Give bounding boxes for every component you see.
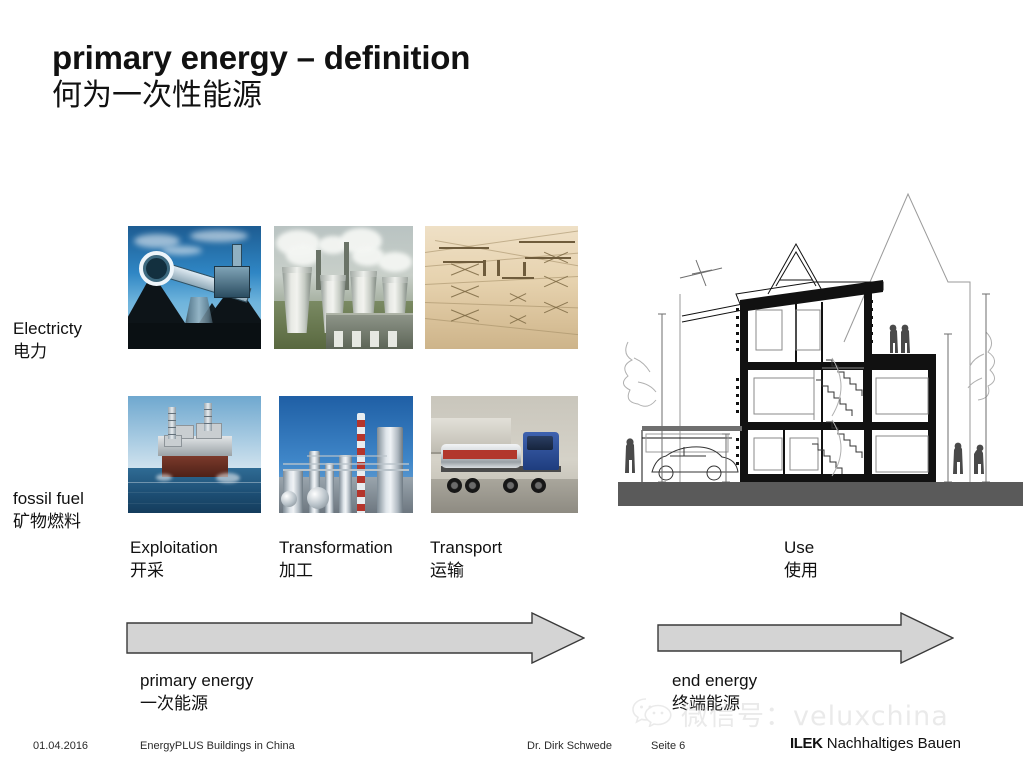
caption-transformation: Transformation 加工 [279,537,393,583]
page-title: primary energy – definition 何为一次性能源 [52,40,470,113]
end-energy-arrow [657,612,954,664]
primary-energy-label-zh: 一次能源 [140,693,253,716]
row-label-fossil-fuel-zh: 矿物燃料 [13,511,84,534]
primary-energy-label-en: primary energy [140,671,253,690]
caption-transport-en: Transport [430,538,502,557]
building-section-drawing [618,182,1023,522]
ilek-logo-text: Nachhaltiges Bauen [823,735,961,752]
ilek-logo: ILEK Nachhaltiges Bauen [790,735,961,752]
ilek-logo-mark: ILEK [790,735,823,752]
caption-transport-zh: 运输 [430,560,502,583]
power-plant-photo [274,226,413,349]
wechat-icon [632,695,672,732]
footer-date: 01.04.2016 [33,740,88,752]
tanker-truck-photo [431,396,578,513]
title-english: primary energy – definition [52,40,470,77]
row-label-electricity-zh: 电力 [13,341,82,364]
caption-exploitation: Exploitation 开采 [130,537,218,583]
primary-energy-label: primary energy 一次能源 [140,670,253,716]
caption-exploitation-en: Exploitation [130,538,218,557]
slide-canvas: primary energy – definition 何为一次性能源 Elec… [0,0,1023,767]
caption-use: Use 使用 [784,537,818,583]
caption-exploitation-zh: 开采 [130,560,218,583]
caption-transformation-en: Transformation [279,538,393,557]
footer-project: EnergyPLUS Buildings in China [140,740,295,752]
row-label-electricity: Electricty 电力 [13,318,82,364]
coal-mining-photo [128,226,261,349]
end-energy-label-en: end energy [672,671,757,690]
footer-page-number: Seite 6 [651,740,685,752]
caption-transport: Transport 运输 [430,537,502,583]
oil-rig-photo [128,396,261,513]
people-silhouettes [890,325,910,353]
end-energy-label: end energy 终端能源 [672,670,757,716]
caption-use-en: Use [784,538,814,557]
title-chinese: 何为一次性能源 [52,78,470,113]
footer-author: Dr. Dirk Schwede [527,740,612,752]
end-energy-label-zh: 终端能源 [672,693,757,716]
caption-use-zh: 使用 [784,560,818,583]
row-label-fossil-fuel-en: fossil fuel [13,489,84,508]
primary-energy-arrow [126,612,585,664]
caption-transformation-zh: 加工 [279,560,393,583]
row-label-electricity-en: Electricty [13,319,82,338]
refinery-photo [279,396,413,513]
row-label-fossil-fuel: fossil fuel 矿物燃料 [13,488,84,534]
transmission-lines-photo [425,226,578,349]
